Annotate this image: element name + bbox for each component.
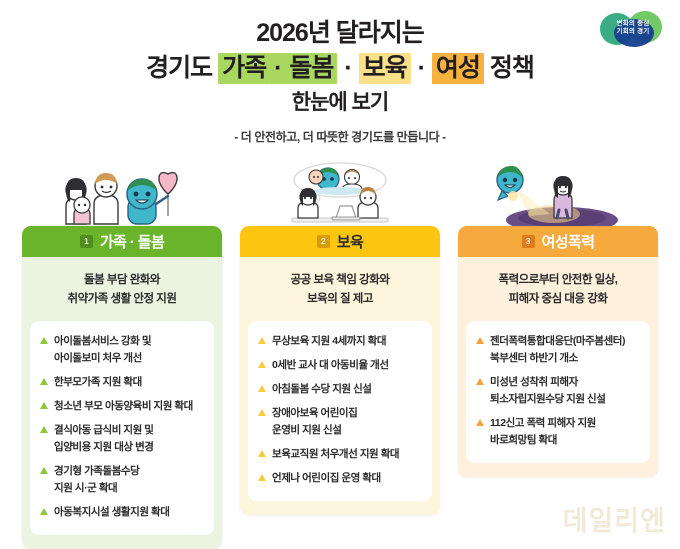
card-1-list: 아이돌봄서비스 강화 및 아이돌보미 처우 개선 한부모가족 지원 확대 — [30, 321, 214, 535]
card-2-lead-line1: 공공 보육 책임 강화와 — [252, 271, 428, 290]
list-item-line1: 미성년 성착취 피해자 — [490, 376, 578, 388]
card-3-lead: 폭력으로부터 안전한 일상, 피해자 중심 대응 강화 — [466, 269, 650, 321]
title-prefix: 경기도 — [146, 54, 212, 82]
illustration-counseling-desk-with-thought-bubble — [240, 160, 440, 226]
title-separator-2: · — [343, 54, 352, 82]
title-highlight-care: 돌봄 — [285, 53, 337, 84]
list-item-line2: 지원 시·군 확대 — [54, 480, 139, 497]
triangle-bullet-icon — [40, 402, 48, 409]
list-item: 한부모가족 지원 확대 — [40, 374, 204, 391]
card-3: 3 여성폭력 폭력으로부터 안전한 일상, 피해자 중심 대응 강화 젠더폭력통… — [458, 226, 658, 477]
title-highlight-childcare: 보육 — [359, 53, 411, 84]
card-2-number-badge: 2 — [317, 235, 330, 248]
infographic-page: 변화의 중심 기회의 경기 2026년 달라지는 경기도 가족·돌봄 · 보육 … — [0, 0, 680, 548]
list-item-text: 젠더폭력통합대응단(마주봄센터) 북부센터 하반기 개소 — [490, 333, 625, 367]
triangle-bullet-icon — [258, 474, 266, 481]
card-1-body: 돌봄 부담 완화와 취약가족 생활 안정 지원 아이돌봄서비스 강화 및 아이돌… — [22, 257, 222, 549]
card-3-lead-line1: 폭력으로부터 안전한 일상, — [470, 271, 646, 290]
list-item-line1: 한부모가족 지원 확대 — [54, 376, 142, 388]
list-item: 미성년 성착취 피해자 퇴소자립지원수당 지원 신설 — [476, 374, 640, 408]
triangle-bullet-icon — [476, 337, 484, 344]
card-3-list: 젠더폭력통합대응단(마주봄센터) 북부센터 하반기 개소 미성년 성착취 피해자… — [466, 321, 650, 463]
card-3-header: 3 여성폭력 — [458, 226, 658, 257]
list-item-text: 아동복지시설 생활지원 확대 — [54, 504, 169, 521]
list-item: 청소년 부모 아동양육비 지원 확대 — [40, 398, 204, 415]
card-1-header: 1 가족 · 돌봄 — [22, 226, 222, 257]
card-1-lead: 돌봄 부담 완화와 취약가족 생활 안정 지원 — [30, 269, 214, 321]
list-item-line1: 젠더폭력통합대응단(마주봄센터) — [490, 335, 625, 347]
list-item: 경기형 가족돌봄수당 지원 시·군 확대 — [40, 463, 204, 497]
title-block: 2026년 달라지는 경기도 가족·돌봄 · 보육 · 여성 정책 한눈에 보기… — [0, 0, 680, 145]
list-item-line2: 운영비 지원 신설 — [272, 422, 357, 439]
title-line-3: 한눈에 보기 — [0, 89, 680, 117]
list-item-line2: 북부센터 하반기 개소 — [490, 350, 625, 367]
list-item-text: 무상보육 지원 4세까지 확대 — [272, 333, 386, 350]
card-3-title: 여성폭력 — [542, 231, 595, 252]
card-1-lead-line2: 취약가족 생활 안정 지원 — [34, 290, 210, 309]
list-item: 장애아보육 어린이집 운영비 지원 신설 — [258, 405, 422, 439]
list-item: 무상보육 지원 4세까지 확대 — [258, 333, 422, 350]
list-item-line1: 경기형 가족돌봄수당 — [54, 465, 139, 477]
title-highlight-family: 가족 — [218, 53, 270, 84]
list-item-text: 경기형 가족돌봄수당 지원 시·군 확대 — [54, 463, 139, 497]
logo-text-line1: 변화의 중심 — [598, 20, 668, 28]
list-item: 젠더폭력통합대응단(마주봄센터) 북부센터 하반기 개소 — [476, 333, 640, 367]
list-item-line1: 아침돌봄 수당 지원 신설 — [272, 383, 372, 395]
list-item-line2: 아이돌보미 처우 개선 — [54, 350, 151, 367]
list-item-line1: 112신고 폭력 피해자 지원 — [490, 417, 596, 429]
list-item-line1: 0세반 교사 대 아동비율 개선 — [272, 359, 389, 371]
list-item-line1: 아이돌봄서비스 강화 및 — [54, 335, 151, 347]
title-line-2: 경기도 가족·돌봄 · 보육 · 여성 정책 — [0, 51, 680, 85]
triangle-bullet-icon — [40, 467, 48, 474]
list-item-text: 한부모가족 지원 확대 — [54, 374, 142, 391]
list-item-text: 언제나 어린이집 운영 확대 — [272, 470, 381, 487]
list-item-line1: 보육교직원 처우개선 지원 확대 — [272, 448, 399, 460]
list-item-line1: 아동복지시설 생활지원 확대 — [54, 506, 169, 518]
list-item: 112신고 폭력 피해자 지원 바로희망팀 확대 — [476, 415, 640, 449]
illustration-family-with-heart-balloon — [22, 160, 222, 226]
card-3-body: 폭력으로부터 안전한 일상, 피해자 중심 대응 강화 젠더폭력통합대응단(마주… — [458, 257, 658, 477]
card-childcare: 2 보육 공공 보육 책임 강화와 보육의 질 제고 무상보육 지원 4세까지 … — [240, 160, 440, 548]
title-suffix: 정책 — [490, 54, 534, 82]
list-item-line2: 퇴소자립지원수당 지원 신설 — [490, 391, 605, 408]
card-2-list: 무상보육 지원 4세까지 확대 0세반 교사 대 아동비율 개선 — [248, 321, 432, 501]
triangle-bullet-icon — [476, 378, 484, 385]
card-2-body: 공공 보육 책임 강화와 보육의 질 제고 무상보육 지원 4세까지 확대 — [240, 257, 440, 515]
illustration-flying-mascot-lighting-walking-woman — [458, 160, 658, 226]
triangle-bullet-icon — [40, 508, 48, 515]
card-1-number-badge: 1 — [80, 235, 93, 248]
card-2-header: 2 보육 — [240, 226, 440, 257]
triangle-bullet-icon — [258, 450, 266, 457]
card-2: 2 보육 공공 보육 책임 강화와 보육의 질 제고 무상보육 지원 4세까지 … — [240, 226, 440, 515]
list-item: 결식아동 급식비 지원 및 입양비용 지원 대상 변경 — [40, 422, 204, 456]
list-item-line2: 바로희망팀 확대 — [490, 432, 596, 449]
title-highlight-women: 여성 — [432, 53, 484, 84]
title-subtitle: - 더 안전하고, 더 따뜻한 경기도를 만듭니다 - — [0, 128, 680, 145]
list-item-text: 결식아동 급식비 지원 및 입양비용 지원 대상 변경 — [54, 422, 154, 456]
list-item-line1: 청소년 부모 아동양육비 지원 확대 — [54, 400, 193, 412]
triangle-bullet-icon — [40, 426, 48, 433]
card-2-lead: 공공 보육 책임 강화와 보육의 질 제고 — [248, 269, 432, 321]
card-1: 1 가족 · 돌봄 돌봄 부담 완화와 취약가족 생활 안정 지원 아이돌봄서비… — [22, 226, 222, 549]
list-item-text: 112신고 폭력 피해자 지원 바로희망팀 확대 — [490, 415, 596, 449]
title-separator-1: · — [270, 53, 285, 84]
list-item: 아이돌봄서비스 강화 및 아이돌보미 처우 개선 — [40, 333, 204, 367]
list-item-text: 보육교직원 처우개선 지원 확대 — [272, 446, 399, 463]
card-2-title: 보육 — [337, 231, 363, 252]
list-item-line1: 결식아동 급식비 지원 및 — [54, 424, 154, 436]
card-family-care: 1 가족 · 돌봄 돌봄 부담 완화와 취약가족 생활 안정 지원 아이돌봄서비… — [22, 160, 222, 548]
list-item: 0세반 교사 대 아동비율 개선 — [258, 357, 422, 374]
list-item-text: 장애아보육 어린이집 운영비 지원 신설 — [272, 405, 357, 439]
triangle-bullet-icon — [258, 385, 266, 392]
triangle-bullet-icon — [40, 378, 48, 385]
list-item-text: 청소년 부모 아동양육비 지원 확대 — [54, 398, 193, 415]
triangle-bullet-icon — [40, 337, 48, 344]
card-1-title: 가족 · 돌봄 — [100, 231, 164, 252]
triangle-bullet-icon — [258, 361, 266, 368]
gyeonggi-logo: 변화의 중심 기회의 경기 — [598, 9, 668, 49]
card-3-lead-line2: 피해자 중심 대응 강화 — [470, 290, 646, 309]
card-3-number-badge: 3 — [522, 235, 535, 248]
cards-row: 1 가족 · 돌봄 돌봄 부담 완화와 취약가족 생활 안정 지원 아이돌봄서비… — [0, 160, 680, 548]
logo-text: 변화의 중심 기회의 경기 — [598, 20, 668, 36]
list-item: 보육교직원 처우개선 지원 확대 — [258, 446, 422, 463]
list-item-line1: 장애아보육 어린이집 — [272, 407, 357, 419]
list-item: 언제나 어린이집 운영 확대 — [258, 470, 422, 487]
triangle-bullet-icon — [258, 409, 266, 416]
card-women-violence: 3 여성폭력 폭력으로부터 안전한 일상, 피해자 중심 대응 강화 젠더폭력통… — [458, 160, 658, 548]
triangle-bullet-icon — [258, 337, 266, 344]
logo-text-line2: 기회의 경기 — [598, 28, 668, 36]
list-item: 아침돌봄 수당 지원 신설 — [258, 381, 422, 398]
list-item-text: 미성년 성착취 피해자 퇴소자립지원수당 지원 신설 — [490, 374, 605, 408]
card-1-lead-line1: 돌봄 부담 완화와 — [34, 271, 210, 290]
list-item-text: 아침돌봄 수당 지원 신설 — [272, 381, 372, 398]
list-item-line2: 입양비용 지원 대상 변경 — [54, 439, 154, 456]
title-separator-3: · — [417, 54, 426, 82]
list-item-line1: 언제나 어린이집 운영 확대 — [272, 472, 381, 484]
list-item-text: 아이돌봄서비스 강화 및 아이돌보미 처우 개선 — [54, 333, 151, 367]
list-item: 아동복지시설 생활지원 확대 — [40, 504, 204, 521]
title-line-1: 2026년 달라지는 — [0, 18, 680, 48]
triangle-bullet-icon — [476, 419, 484, 426]
list-item-line1: 무상보육 지원 4세까지 확대 — [272, 335, 386, 347]
list-item-text: 0세반 교사 대 아동비율 개선 — [272, 357, 389, 374]
card-2-lead-line2: 보육의 질 제고 — [252, 290, 428, 309]
